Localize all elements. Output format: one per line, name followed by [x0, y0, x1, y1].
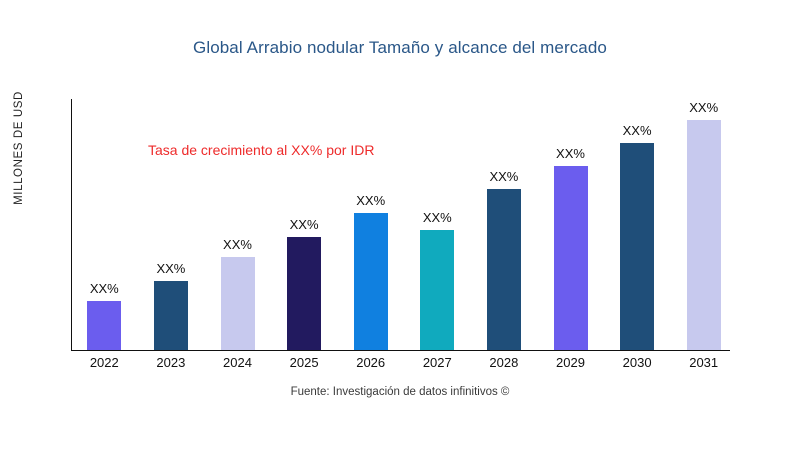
bar-value-label: XX%	[341, 193, 401, 208]
x-tick-label-2031: 2031	[674, 355, 734, 370]
x-tick-label-2023: 2023	[141, 355, 201, 370]
bar-value-label: XX%	[141, 261, 201, 276]
bar-2028	[487, 189, 521, 350]
bar-2025	[287, 237, 321, 350]
bar-2030	[620, 143, 654, 350]
bar-chart: Global Arrabio nodular Tamaño y alcance …	[0, 0, 800, 450]
bar-2023	[154, 281, 188, 350]
x-tick-label-2029: 2029	[541, 355, 601, 370]
bar-value-label: XX%	[208, 237, 268, 252]
bar-2027	[420, 230, 454, 350]
y-axis-line	[71, 99, 72, 351]
bar-value-label: XX%	[607, 123, 667, 138]
bar-2024	[221, 257, 255, 350]
x-tick-label-2022: 2022	[74, 355, 134, 370]
bar-value-label: XX%	[674, 100, 734, 115]
x-tick-label-2028: 2028	[474, 355, 534, 370]
source-note: Fuente: Investigación de datos infinitiv…	[0, 386, 800, 398]
bar-value-label: XX%	[541, 146, 601, 161]
bar-value-label: XX%	[474, 169, 534, 184]
x-tick-label-2026: 2026	[341, 355, 401, 370]
x-tick-label-2027: 2027	[407, 355, 467, 370]
bar-2026	[354, 213, 388, 350]
bar-2029	[554, 166, 588, 350]
bar-value-label: XX%	[407, 210, 467, 225]
bar-2022	[87, 301, 121, 350]
bar-2031	[687, 120, 721, 350]
bar-value-label: XX%	[274, 217, 334, 232]
x-tick-label-2030: 2030	[607, 355, 667, 370]
x-tick-label-2025: 2025	[274, 355, 334, 370]
x-tick-label-2024: 2024	[208, 355, 268, 370]
bar-value-label: XX%	[74, 281, 134, 296]
plot-area: XX%2022XX%2023XX%2024XX%2025XX%2026XX%20…	[0, 0, 800, 450]
